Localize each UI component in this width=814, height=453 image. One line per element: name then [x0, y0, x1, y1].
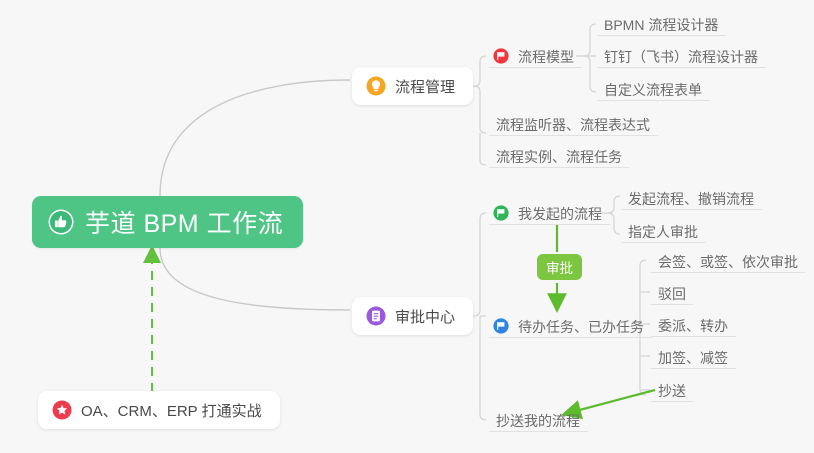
edge-root-to-process-management	[160, 80, 350, 196]
node-todo-done[interactable]: 待办任务、已办任务	[489, 308, 652, 338]
label-start-cancel: 发起流程、撤销流程	[628, 192, 754, 206]
branch-label-approval-center: 审批中心	[395, 306, 455, 327]
label-custom-process-form: 自定义流程表单	[604, 83, 702, 97]
node-dingtalk-feishu-designer[interactable]: 钉钉（飞书）流程设计器	[597, 38, 766, 68]
bottom-note-node[interactable]: OA、CRM、ERP 打通实战	[38, 391, 280, 429]
label-my-initiated: 我发起的流程	[518, 207, 602, 221]
tag-label-approval: 审批	[546, 257, 573, 277]
root-node[interactable]: 芋道 BPM 工作流	[32, 196, 303, 248]
node-add-remove-sign[interactable]: 加签、减签	[651, 339, 736, 369]
flag-green-icon	[493, 205, 509, 221]
node-process-model[interactable]: 流程模型	[489, 38, 582, 68]
node-assignee-approval[interactable]: 指定人审批	[621, 213, 706, 243]
edge-approval-center-to-cc-my	[480, 316, 486, 420]
node-custom-process-form[interactable]: 自定义流程表单	[597, 71, 710, 101]
node-multi-sign[interactable]: 会签、或签、依次审批	[651, 243, 806, 273]
label-instance-task: 流程实例、流程任务	[496, 150, 622, 164]
clipboard-purple-icon	[366, 306, 386, 326]
label-todo-done: 待办任务、已办任务	[518, 320, 644, 334]
node-start-cancel[interactable]: 发起流程、撤销流程	[621, 180, 762, 210]
label-multi-sign: 会签、或签、依次审批	[658, 255, 798, 269]
star-icon	[52, 400, 72, 420]
node-instance-task[interactable]: 流程实例、流程任务	[489, 138, 630, 168]
root-label: 芋道 BPM 工作流	[85, 204, 283, 240]
branch-node-process-management[interactable]: 流程管理	[352, 67, 473, 105]
label-cc: 抄送	[658, 384, 686, 398]
branch-label-process-management: 流程管理	[395, 76, 455, 97]
label-delegate-transfer: 委派、转办	[658, 319, 728, 333]
label-bpmn-designer: BPMN 流程设计器	[604, 18, 718, 32]
edge-process-management-bus-2	[474, 86, 486, 133]
label-dingtalk-feishu-designer: 钉钉（飞书）流程设计器	[604, 50, 758, 64]
edge-process-model-bus-2	[584, 56, 596, 92]
node-delegate-transfer[interactable]: 委派、转办	[651, 307, 736, 337]
label-listener-expression: 流程监听器、流程表达式	[496, 118, 650, 132]
tag-node-approval[interactable]: 审批	[537, 254, 582, 280]
flag-red-icon	[493, 48, 509, 64]
label-process-model: 流程模型	[518, 50, 574, 64]
label-reject: 驳回	[658, 287, 686, 301]
lightbulb-icon	[366, 76, 386, 96]
bottom-note-label: OA、CRM、ERP 打通实战	[81, 400, 262, 421]
node-bpmn-designer[interactable]: BPMN 流程设计器	[597, 6, 726, 36]
label-add-remove-sign: 加签、减签	[658, 351, 728, 365]
label-assignee-approval: 指定人审批	[628, 225, 698, 239]
mindmap-canvas: 芋道 BPM 工作流 OA、CRM、ERP 打通实战 流程管理	[0, 0, 814, 453]
edge-root-to-approval-center	[160, 248, 350, 310]
node-reject[interactable]: 驳回	[651, 275, 694, 305]
flag-blue-icon	[493, 318, 509, 334]
node-listener-expression[interactable]: 流程监听器、流程表达式	[489, 106, 658, 136]
label-cc-my-process: 抄送我的流程	[496, 414, 580, 428]
node-my-initiated[interactable]: 我发起的流程	[489, 195, 610, 225]
node-cc[interactable]: 抄送	[651, 372, 694, 402]
node-cc-my-process[interactable]: 抄送我的流程	[489, 402, 588, 432]
branch-node-approval-center[interactable]: 审批中心	[352, 297, 473, 335]
edge-process-management-bus-3	[480, 133, 486, 165]
thumbs-up-icon	[48, 209, 74, 235]
